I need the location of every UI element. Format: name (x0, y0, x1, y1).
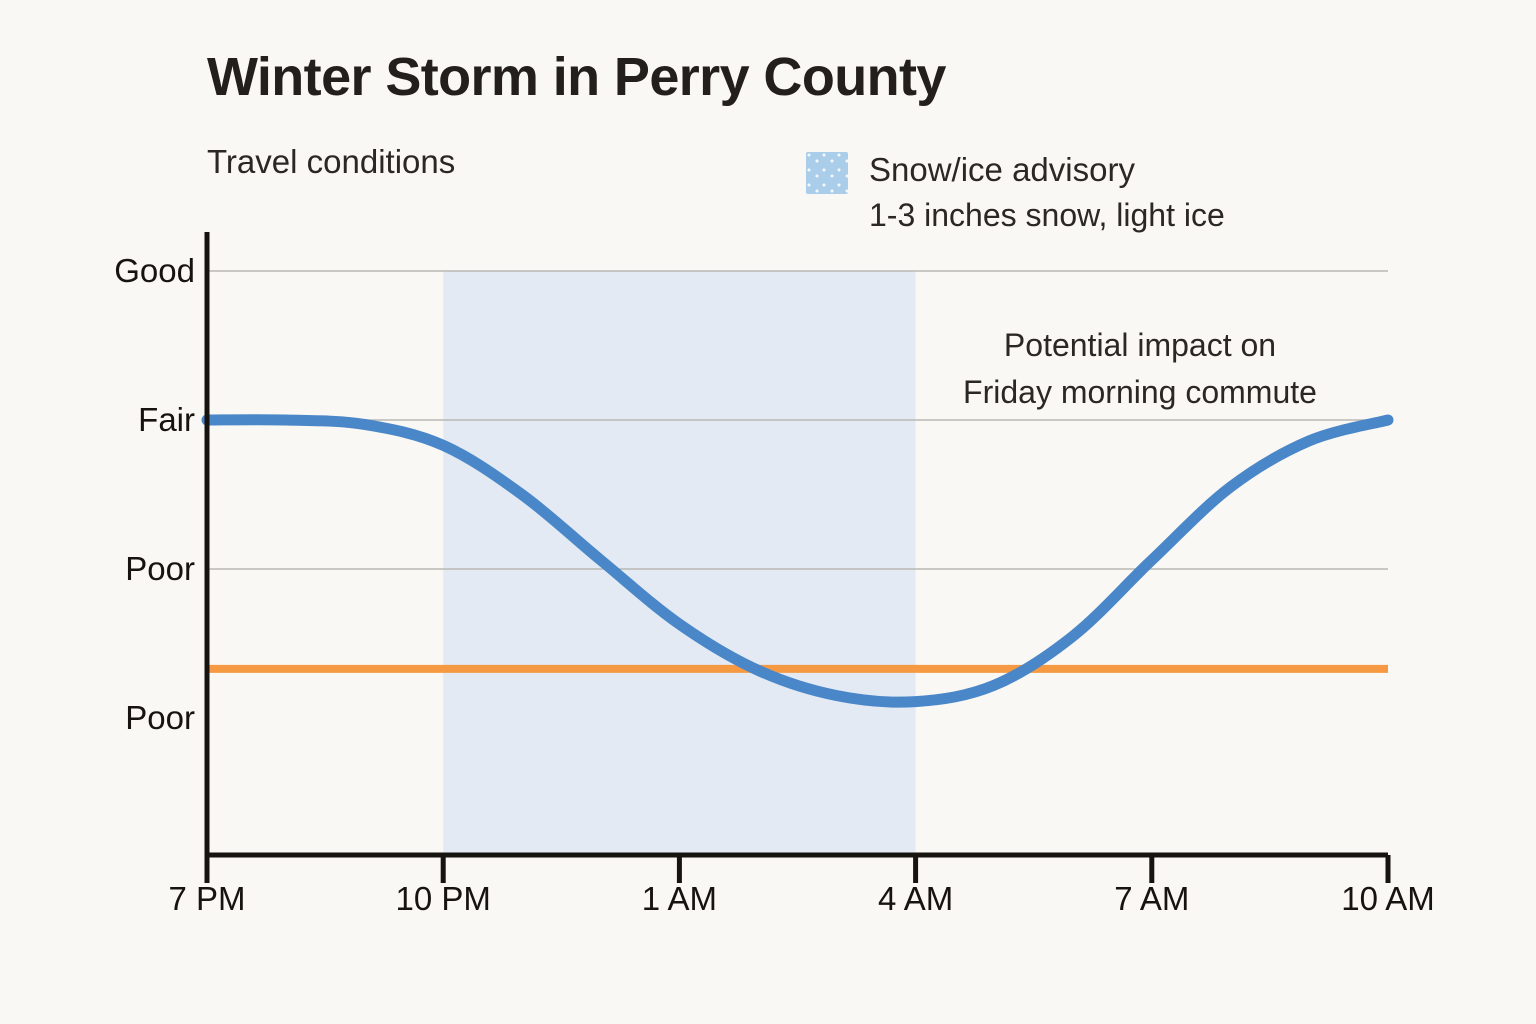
shaded-band-snow-ice-advisory (443, 271, 915, 855)
x-axis-tick-label: 10 AM (1341, 880, 1435, 918)
y-axis-tick-label: Poor (125, 550, 195, 588)
y-axis-tick-label: Poor (125, 699, 195, 737)
x-axis-tick-label: 7 AM (1114, 880, 1189, 918)
x-axis-tick-label: 10 PM (396, 880, 491, 918)
plot-area (0, 0, 1536, 1024)
x-axis-tick-label: 7 PM (168, 880, 245, 918)
y-axis-tick-label: Fair (138, 401, 195, 439)
x-axis-tick-label: 4 AM (878, 880, 953, 918)
x-axis-tick-label: 1 AM (642, 880, 717, 918)
shaded-band-layer (443, 271, 915, 855)
y-axis-tick-label: Good (114, 252, 195, 290)
chart-container: Winter Storm in Perry County Travel cond… (0, 0, 1536, 1024)
